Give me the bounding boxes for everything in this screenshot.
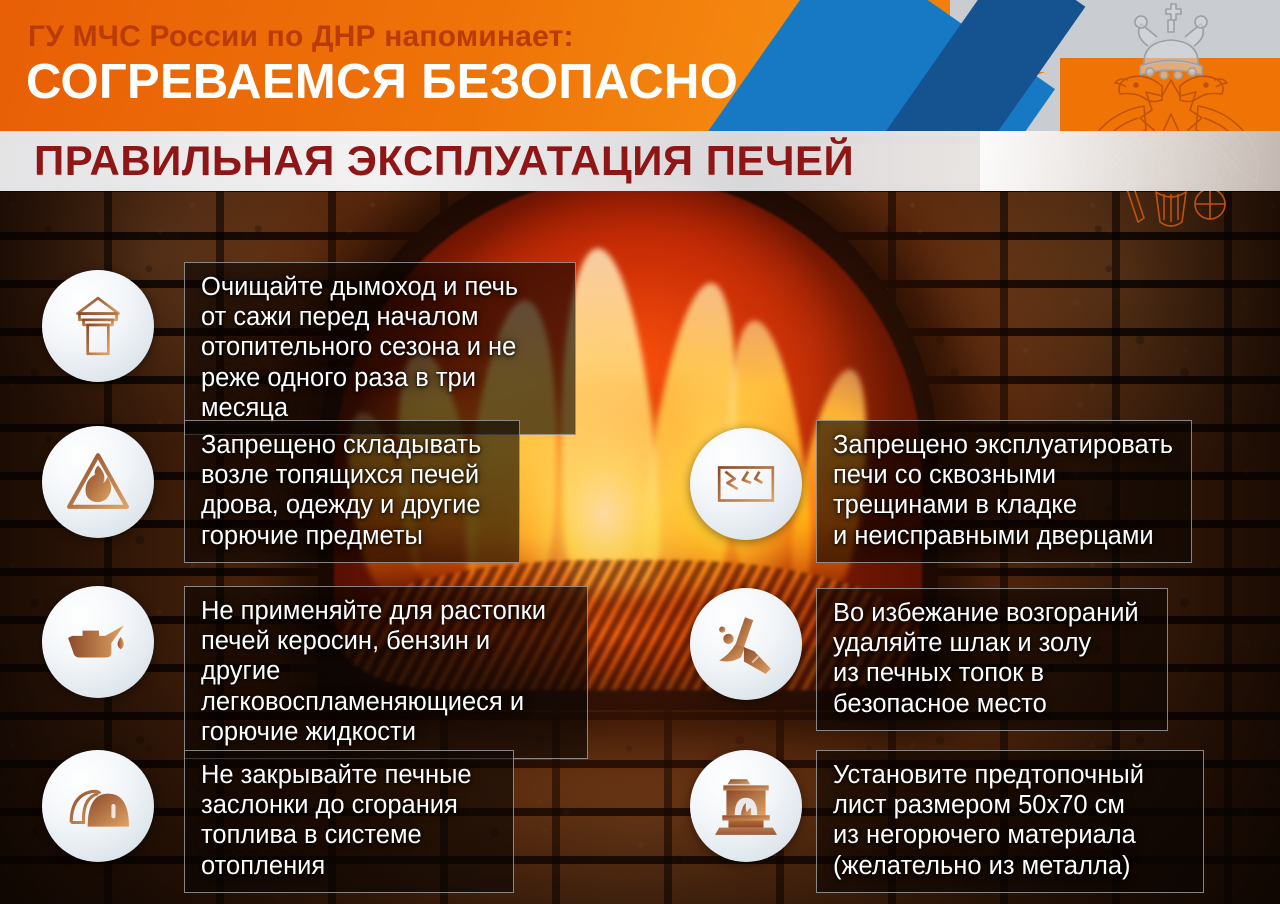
tip-icon-cracked-masonry [690, 428, 802, 540]
tip-box-6: Во избежание возгораний удаляйте шлак и … [816, 588, 1168, 731]
tip-box-1: Очищайте дымоход и печь от сажи перед на… [184, 262, 576, 435]
tip-text-2: Запрещено складывать возле топящихся печ… [201, 430, 503, 551]
cracked-masonry-icon [713, 451, 779, 517]
tip-box-2: Запрещено складывать возле топящихся печ… [184, 420, 520, 563]
tip-box-7: Установите предтопочный лист размером 50… [816, 750, 1204, 893]
tip-box-4: Не закрывайте печные заслонки до сгорани… [184, 750, 514, 893]
oil-can-icon [65, 609, 131, 675]
tip-text-3: Не применяйте для растопки печей керосин… [201, 596, 571, 747]
chimney-icon [65, 293, 131, 359]
subtitle-text: ПРАВИЛЬНАЯ ЭКСПЛУАТАЦИЯ ПЕЧЕЙ [34, 137, 854, 185]
tip-icon-oil-can [42, 586, 154, 698]
poster-root: ГУ МЧС России по ДНР напоминает: СОГРЕВА… [0, 0, 1280, 904]
tip-box-3: Не применяйте для растопки печей керосин… [184, 586, 588, 759]
broom-sweep-icon [713, 611, 779, 677]
header-agency-line: ГУ МЧС России по ДНР напоминает: [28, 20, 574, 54]
tip-icon-stove-damper [42, 750, 154, 862]
tip-text-7: Установите предтопочный лист размером 50… [833, 760, 1187, 881]
tip-icon-broom [690, 588, 802, 700]
tip-text-6: Во избежание возгораний удаляйте шлак и … [833, 598, 1151, 719]
header-banner: ГУ МЧС России по ДНР напоминает: СОГРЕВА… [0, 0, 1280, 131]
header-main-title: СОГРЕВАЕМСЯ БЕЗОПАСНО [26, 58, 738, 107]
tip-text-5: Запрещено эксплуатировать печи со сквозн… [833, 430, 1175, 551]
header-orange-right-field [1060, 58, 1280, 131]
subtitle-banner: ПРАВИЛЬНАЯ ЭКСПЛУАТАЦИЯ ПЕЧЕЙ [0, 131, 1280, 191]
tip-icon-fire-hazard [42, 426, 154, 538]
tip-box-5: Запрещено эксплуатировать печи со сквозн… [816, 420, 1192, 563]
tip-text-1: Очищайте дымоход и печь от сажи перед на… [201, 272, 559, 423]
stove-hearth-sheet-icon [713, 773, 779, 839]
tip-icon-chimney [42, 270, 154, 382]
fire-hazard-triangle-icon [65, 449, 131, 515]
tip-icon-stove-hearth [690, 750, 802, 862]
stove-damper-icon [65, 773, 131, 839]
tip-text-4: Не закрывайте печные заслонки до сгорани… [201, 760, 497, 881]
